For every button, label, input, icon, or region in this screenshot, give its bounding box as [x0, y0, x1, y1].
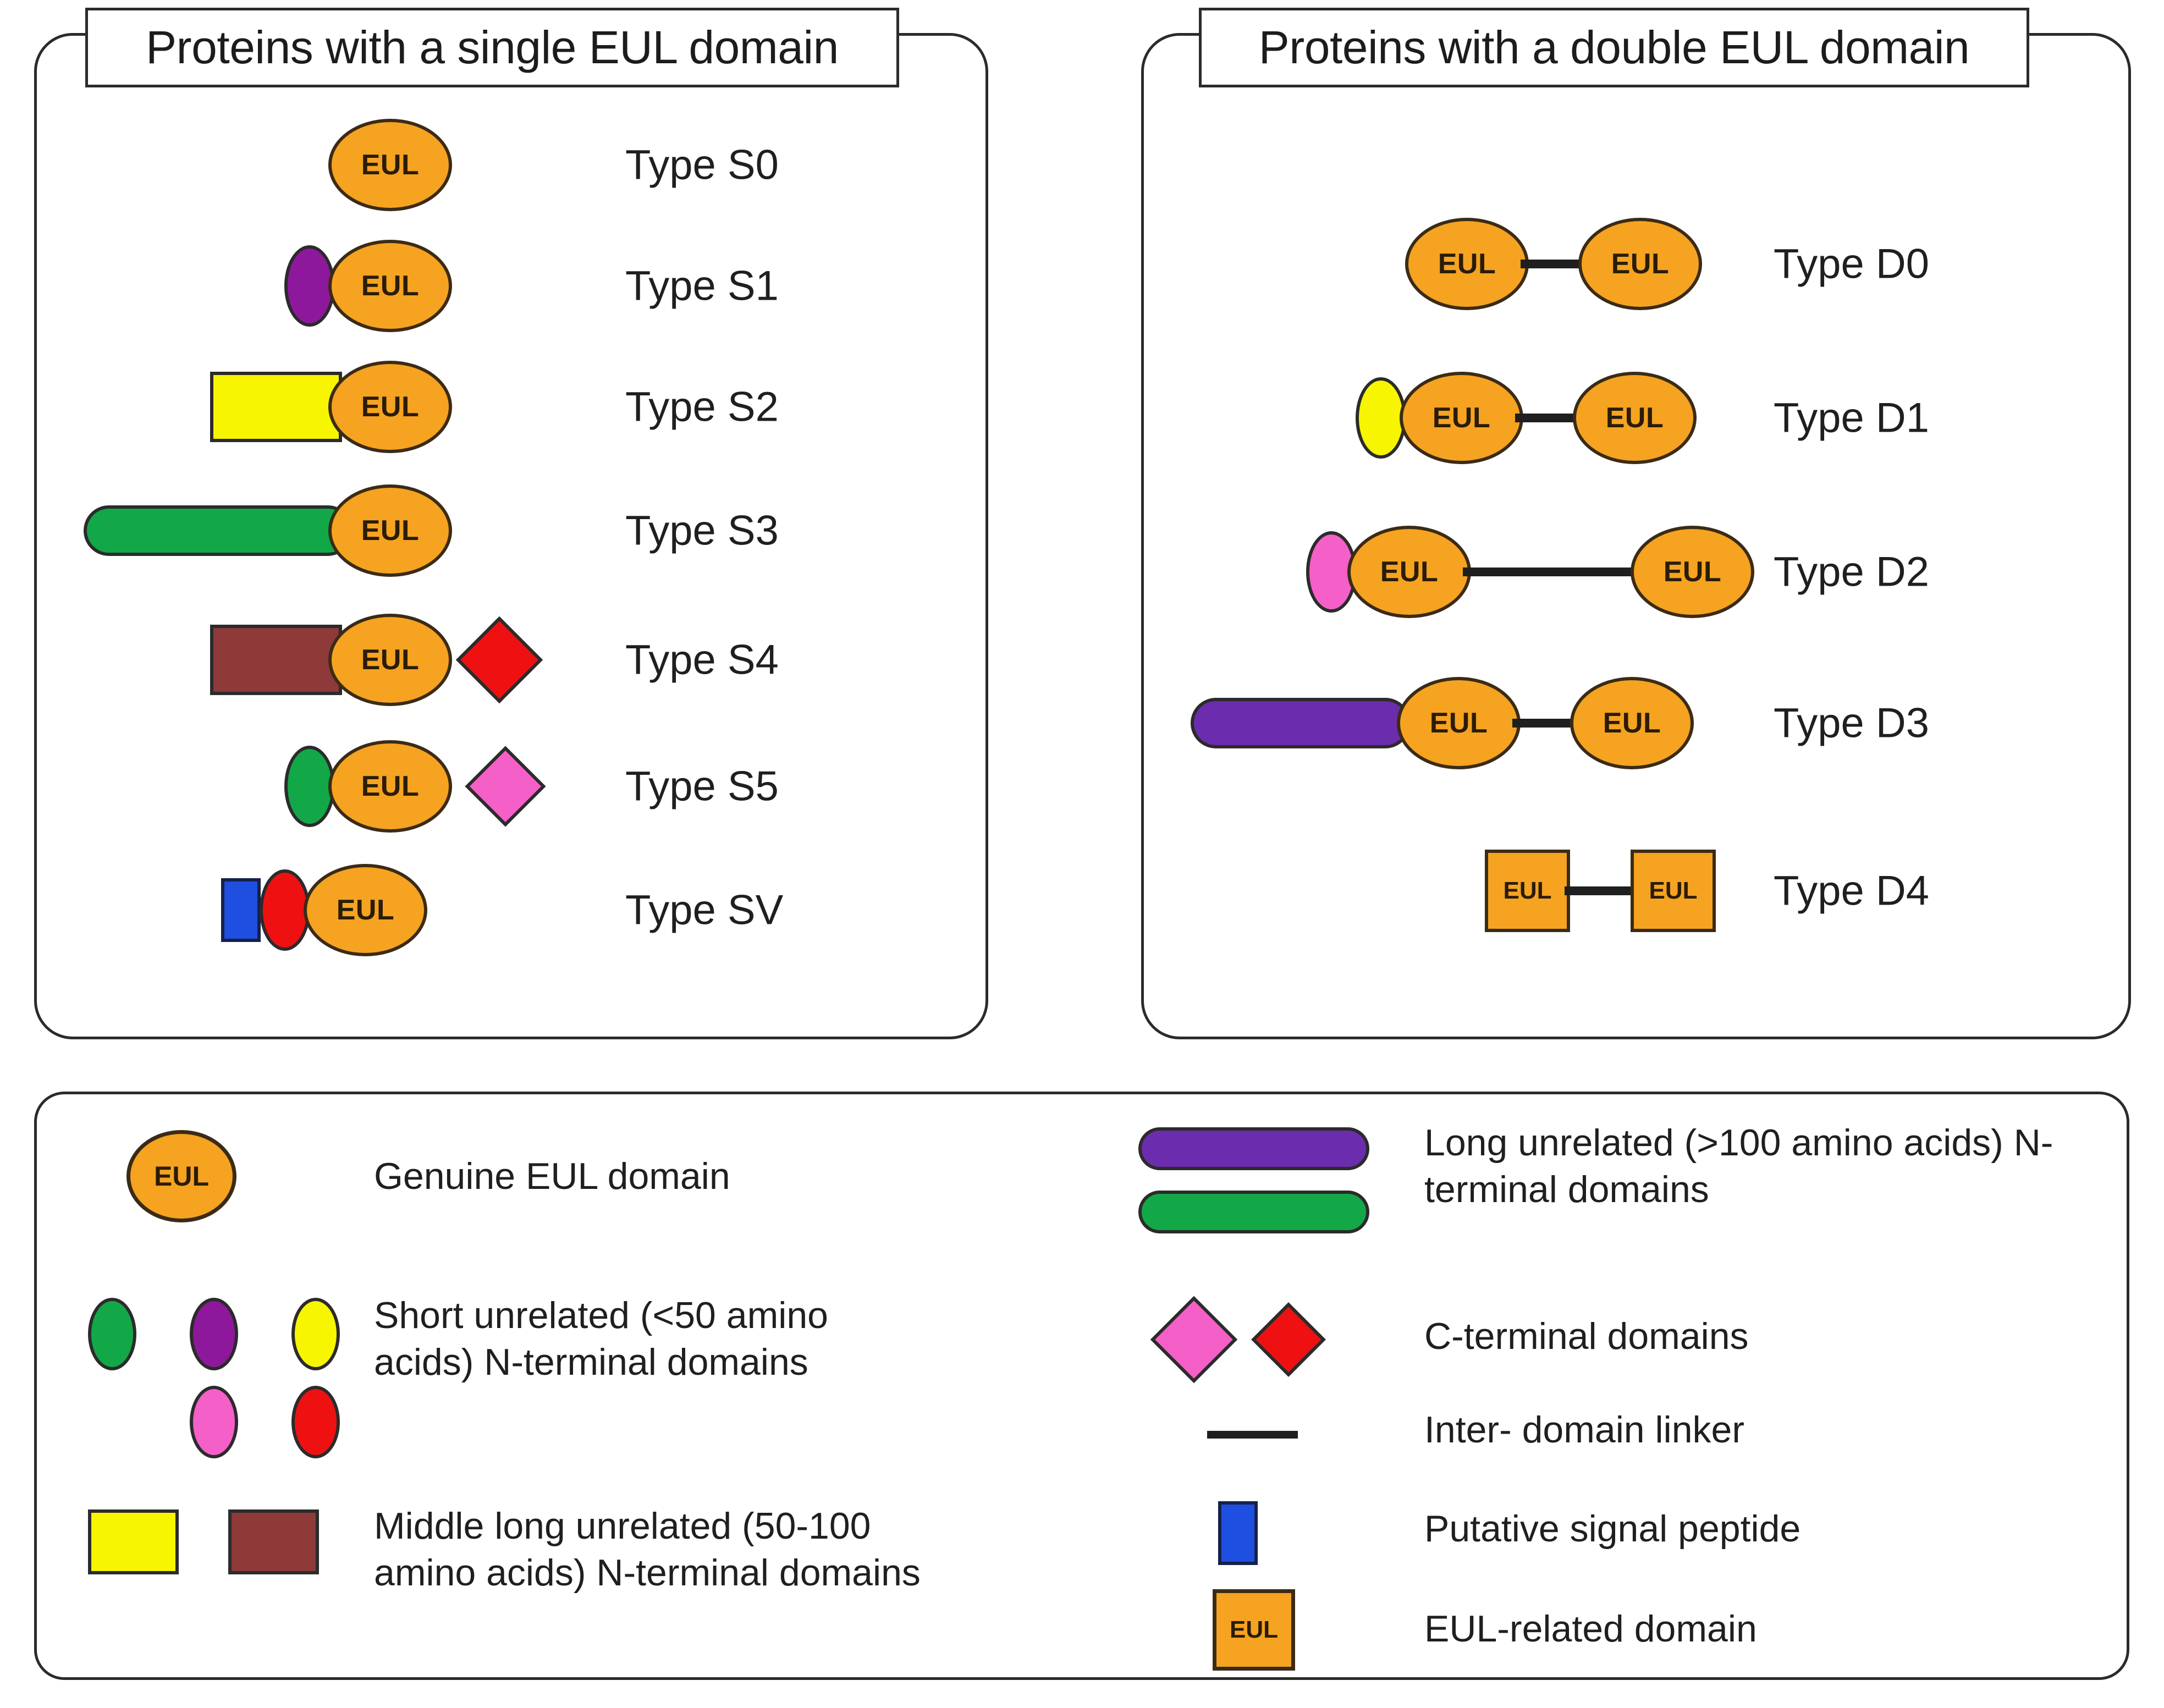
eul-domain-ellipse: EUL — [328, 484, 452, 577]
eul-related-square-glyph: EUL — [1213, 1589, 1295, 1671]
yellow-rect-domain — [210, 372, 342, 442]
eul-related-square: EUL — [1631, 850, 1716, 932]
panel-double-title-text: Proteins with a double EUL domain — [1259, 21, 1969, 74]
panel-single-title-text: Proteins with a single EUL domain — [146, 21, 839, 74]
green-ellipse-glyph — [88, 1298, 136, 1370]
eul-domain-ellipse: EUL — [328, 240, 452, 332]
protein-row-d1: EUL EUL Type D1 — [1141, 357, 2126, 478]
legend-label-putative-signal-peptide: Putative signal peptide — [1424, 1506, 2084, 1552]
type-label-sv: Type SV — [625, 886, 783, 934]
eul-related-square: EUL — [1485, 850, 1570, 932]
protein-row-s2: EUL Type S2 — [34, 346, 983, 467]
eul-domain-ellipse: EUL — [1347, 526, 1471, 618]
purple-ellipse-glyph — [190, 1298, 238, 1370]
type-label-d0: Type D0 — [1774, 240, 1929, 288]
green-bar-domain — [84, 505, 353, 556]
legend-label-long-unrelated: Long unrelated (>100 amino acids) N-term… — [1424, 1120, 2139, 1213]
red-ellipse-domain — [260, 869, 310, 951]
blue-signal-peptide-glyph — [1218, 1501, 1258, 1565]
panel-double-title: Proteins with a double EUL domain — [1199, 8, 2029, 87]
eul-domain-ellipse: EUL — [1397, 677, 1521, 769]
eul-domain-ellipse: EUL — [328, 361, 452, 453]
green-ellipse-domain — [284, 746, 335, 827]
eul-domain-ellipse: EUL — [1405, 218, 1529, 310]
protein-row-s0: EUL Type S0 — [34, 104, 983, 225]
panel-single-title: Proteins with a single EUL domain — [85, 8, 899, 87]
type-label-s1: Type S1 — [625, 262, 779, 310]
protein-row-d3: EUL EUL Type D3 — [1141, 663, 2126, 784]
protein-row-sv: EUL Type SV — [34, 850, 983, 971]
type-label-s5: Type S5 — [625, 763, 779, 811]
inter-domain-linker — [1512, 719, 1578, 728]
eul-domain-ellipse: EUL — [1578, 218, 1702, 310]
type-label-d3: Type D3 — [1774, 699, 1929, 747]
protein-row-s5: EUL Type S5 — [34, 726, 983, 847]
eul-domain-ellipse: EUL — [1400, 372, 1523, 464]
protein-row-d0: EUL EUL Type D0 — [1141, 203, 2126, 324]
protein-row-s1: EUL Type S1 — [34, 225, 983, 346]
purple-ellipse-domain — [284, 245, 335, 327]
violet-bar-glyph — [1138, 1127, 1369, 1170]
eul-domain-ellipse: EUL — [328, 119, 452, 211]
red-diamond-domain — [456, 616, 543, 703]
inter-domain-linker — [1565, 886, 1636, 895]
yellow-ellipse-glyph — [291, 1298, 340, 1370]
type-label-d2: Type D2 — [1774, 548, 1929, 596]
type-label-s0: Type S0 — [625, 141, 779, 189]
legend-label-eul-related: EUL-related domain — [1424, 1606, 2084, 1652]
yellow-rect-glyph — [88, 1509, 179, 1574]
blue-signal-peptide-rect — [221, 878, 261, 942]
eul-domain-ellipse: EUL — [328, 614, 452, 706]
type-label-s3: Type S3 — [625, 507, 779, 555]
eul-domain-ellipse: EUL — [304, 864, 427, 956]
violet-bar-domain — [1191, 698, 1411, 748]
legend-label-genuine-eul: Genuine EUL domain — [374, 1153, 1034, 1200]
brown-rect-domain — [210, 625, 342, 695]
red-ellipse-glyph — [291, 1386, 340, 1458]
legend-label-middle-long-unrelated: Middle long unrelated (50-100 amino acid… — [374, 1503, 968, 1596]
eul-domain-ellipse: EUL — [1631, 526, 1754, 618]
legend-label-short-unrelated: Short unrelated (<50 amino acids) N-term… — [374, 1292, 929, 1386]
protein-row-d4: EUL EUL Type D4 — [1141, 830, 2126, 951]
legend-label-c-terminal: C-terminal domains — [1424, 1313, 2084, 1360]
inter-domain-linker — [1515, 414, 1581, 422]
inter-domain-linker — [1463, 568, 1644, 576]
eul-domain-ellipse: EUL — [328, 740, 452, 833]
eul-domain-ellipse: EUL — [1573, 372, 1697, 464]
inter-domain-linker — [1521, 260, 1587, 268]
protein-row-d2: EUL EUL Type D2 — [1141, 511, 2126, 632]
eul-domain-ellipse-glyph: EUL — [126, 1130, 236, 1222]
pink-diamond-domain — [465, 746, 546, 827]
inter-domain-linker-glyph — [1207, 1431, 1298, 1439]
brown-rect-glyph — [228, 1509, 319, 1574]
type-label-s2: Type S2 — [625, 383, 779, 431]
legend-label-inter-domain-linker: Inter- domain linker — [1424, 1407, 2084, 1453]
green-bar-glyph — [1138, 1191, 1369, 1233]
protein-row-s3: EUL Type S3 — [34, 470, 983, 591]
yellow-ellipse-domain — [1356, 377, 1406, 459]
eul-domain-ellipse: EUL — [1570, 677, 1694, 769]
pink-ellipse-glyph — [190, 1386, 238, 1458]
type-label-s4: Type S4 — [625, 636, 779, 684]
type-label-d1: Type D1 — [1774, 394, 1929, 442]
type-label-d4: Type D4 — [1774, 867, 1929, 915]
protein-row-s4: EUL Type S4 — [34, 599, 983, 720]
